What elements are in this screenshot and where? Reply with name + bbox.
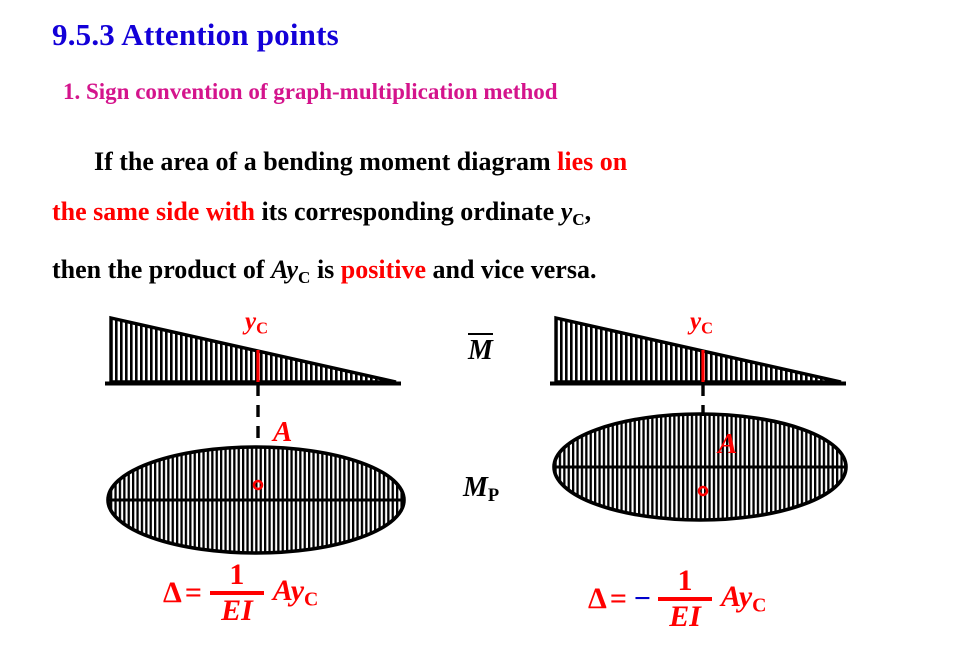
moment-load-label: MP — [463, 472, 499, 506]
body-line3-plain: then the product of — [52, 255, 271, 284]
right-formula-numerator: 1 — [678, 566, 693, 597]
right-formula-delta: Δ — [588, 582, 607, 616]
body-line2-plain: its corresponding ordinate — [255, 197, 561, 226]
body-line3-accent: positive — [341, 255, 426, 284]
right-formula-denominator: EI — [669, 601, 701, 632]
right-formula: Δ = − 1 EI AyC — [588, 566, 766, 632]
left-formula-denominator: EI — [221, 595, 253, 626]
body-line3-tail: and vice versa. — [426, 255, 596, 284]
body-line2-variable: y — [561, 197, 573, 226]
right-formula-minus-sign: − — [634, 582, 651, 616]
body-line2-variable-sub: C — [572, 210, 584, 229]
right-yc-label: yC — [690, 308, 713, 339]
left-formula-numerator: 1 — [229, 560, 244, 591]
right-formula-equals: = — [610, 582, 627, 616]
right-moment-ellipse — [552, 412, 850, 524]
left-formula: Δ = 1 EI AyC — [163, 560, 318, 626]
left-area-label: A — [273, 416, 292, 449]
body-line1-accent: lies on — [557, 147, 627, 176]
left-formula-equals: = — [185, 576, 202, 610]
left-formula-delta: Δ — [163, 576, 182, 610]
right-formula-fraction: 1 EI — [658, 566, 712, 632]
left-formula-fraction: 1 EI — [210, 560, 264, 626]
diagram-area: yC yC A A M MP Δ = 1 EI AyC Δ = − 1 EI A… — [0, 296, 960, 661]
page-title: 9.5.3 Attention points — [52, 17, 339, 53]
body-line1-plain: If the area of a bending moment diagram — [94, 147, 557, 176]
body-line3-is: is — [310, 255, 340, 284]
body-line2-accent: the same side with — [52, 197, 255, 226]
left-moment-ellipse — [106, 445, 406, 557]
right-formula-tail: AyC — [721, 580, 766, 618]
body-paragraph: If the area of a bending moment diagram … — [52, 137, 932, 303]
right-area-label: A — [718, 428, 737, 461]
left-formula-tail: AyC — [273, 574, 318, 612]
left-yc-label: yC — [245, 308, 268, 339]
body-line2-comma: , — [585, 197, 592, 226]
moment-unit-label: M — [468, 333, 493, 367]
body-line3-variable: Ay — [271, 255, 298, 284]
section-subtitle: 1. Sign convention of graph-multiplicati… — [63, 79, 558, 105]
body-line3-variable-sub: C — [298, 268, 310, 287]
